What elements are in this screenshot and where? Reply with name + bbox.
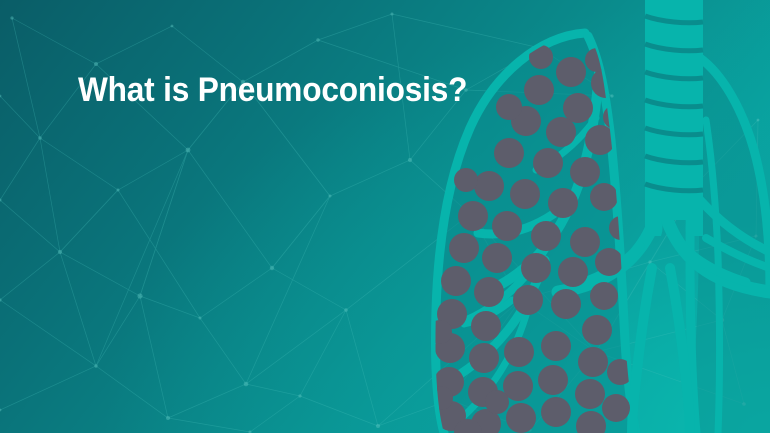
page-title: What is Pneumoconiosis? [78,70,467,110]
trachea [645,0,703,236]
lungs-with-dust-particles-illustration [0,0,770,433]
title-block: What is Pneumoconiosis? [78,70,497,110]
banner-root: What is Pneumoconiosis? [0,0,770,433]
